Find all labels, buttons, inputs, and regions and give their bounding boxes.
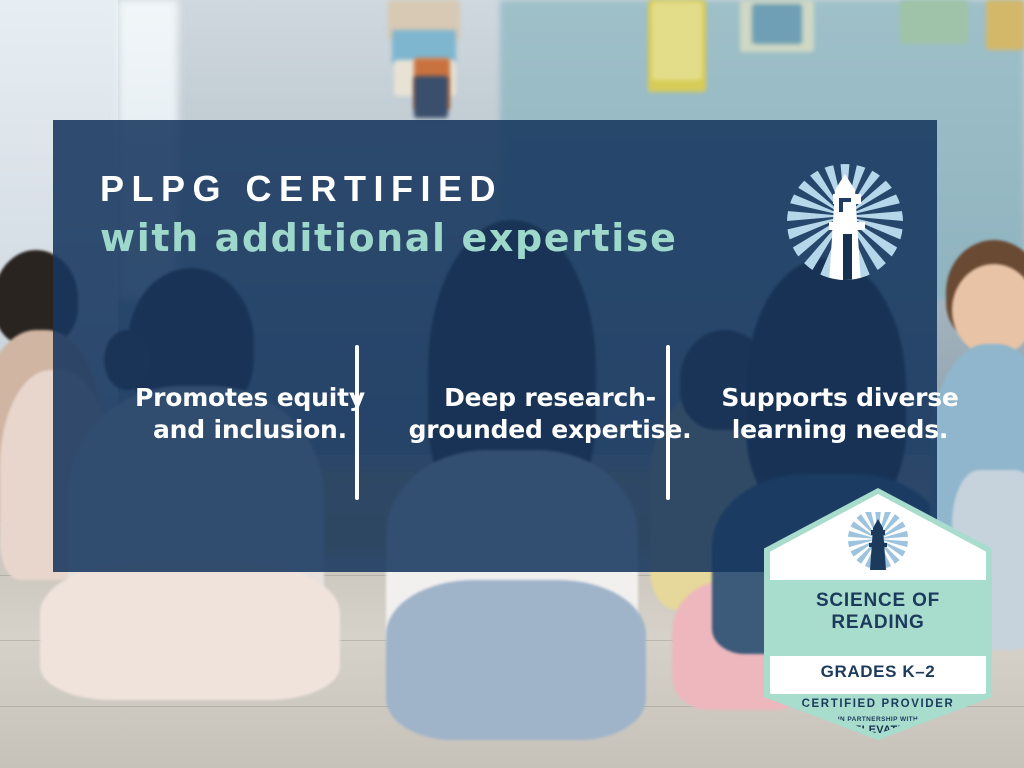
feature-item-2: Deep research- grounded expertise. (380, 382, 720, 445)
page-subtitle: with additional expertise (100, 218, 677, 260)
badge-title-line2: READING (770, 612, 986, 634)
headline-block: PLPG CERTIFIED with additional expertise (100, 170, 677, 260)
poster-canvas: PLPG CERTIFIED with additional expertise (0, 0, 1024, 768)
badge-lighthouse-icon (847, 512, 909, 574)
badge-grades: GRADES K–2 (770, 662, 986, 682)
certification-badge: SCIENCE OF READING GRADES K–2 CERTIFIED … (764, 488, 992, 740)
wall-poster (414, 76, 448, 118)
wall-poster (752, 4, 802, 44)
partner-logo: ELEVATING STANDARDS (770, 725, 986, 734)
feature-list: Promotes equity and inclusion. Deep rese… (80, 340, 960, 510)
feature-text-line2: grounded expertise. (380, 414, 720, 446)
badge-title: SCIENCE OF READING (770, 590, 986, 635)
feature-text-line1: Deep research- (380, 382, 720, 414)
wall-poster (900, 0, 968, 44)
feature-item-1: Promotes equity and inclusion. (90, 382, 410, 445)
wall-poster (986, 0, 1024, 50)
feature-item-3: Supports diverse learning needs. (680, 382, 1000, 445)
feature-text-line2: and inclusion. (90, 414, 410, 446)
badge-title-line1: SCIENCE OF (770, 590, 986, 612)
wall-poster (652, 2, 702, 80)
lighthouse-icon (783, 160, 907, 284)
child-figure (386, 580, 646, 750)
child-figure (40, 560, 340, 720)
feature-text-line1: Promotes equity (90, 382, 410, 414)
feature-text-line2: learning needs. (680, 414, 1000, 446)
feature-text-line1: Supports diverse (680, 382, 1000, 414)
badge-partner-label: IN PARTNERSHIP WITH (770, 716, 986, 723)
page-title: PLPG CERTIFIED (100, 170, 677, 208)
